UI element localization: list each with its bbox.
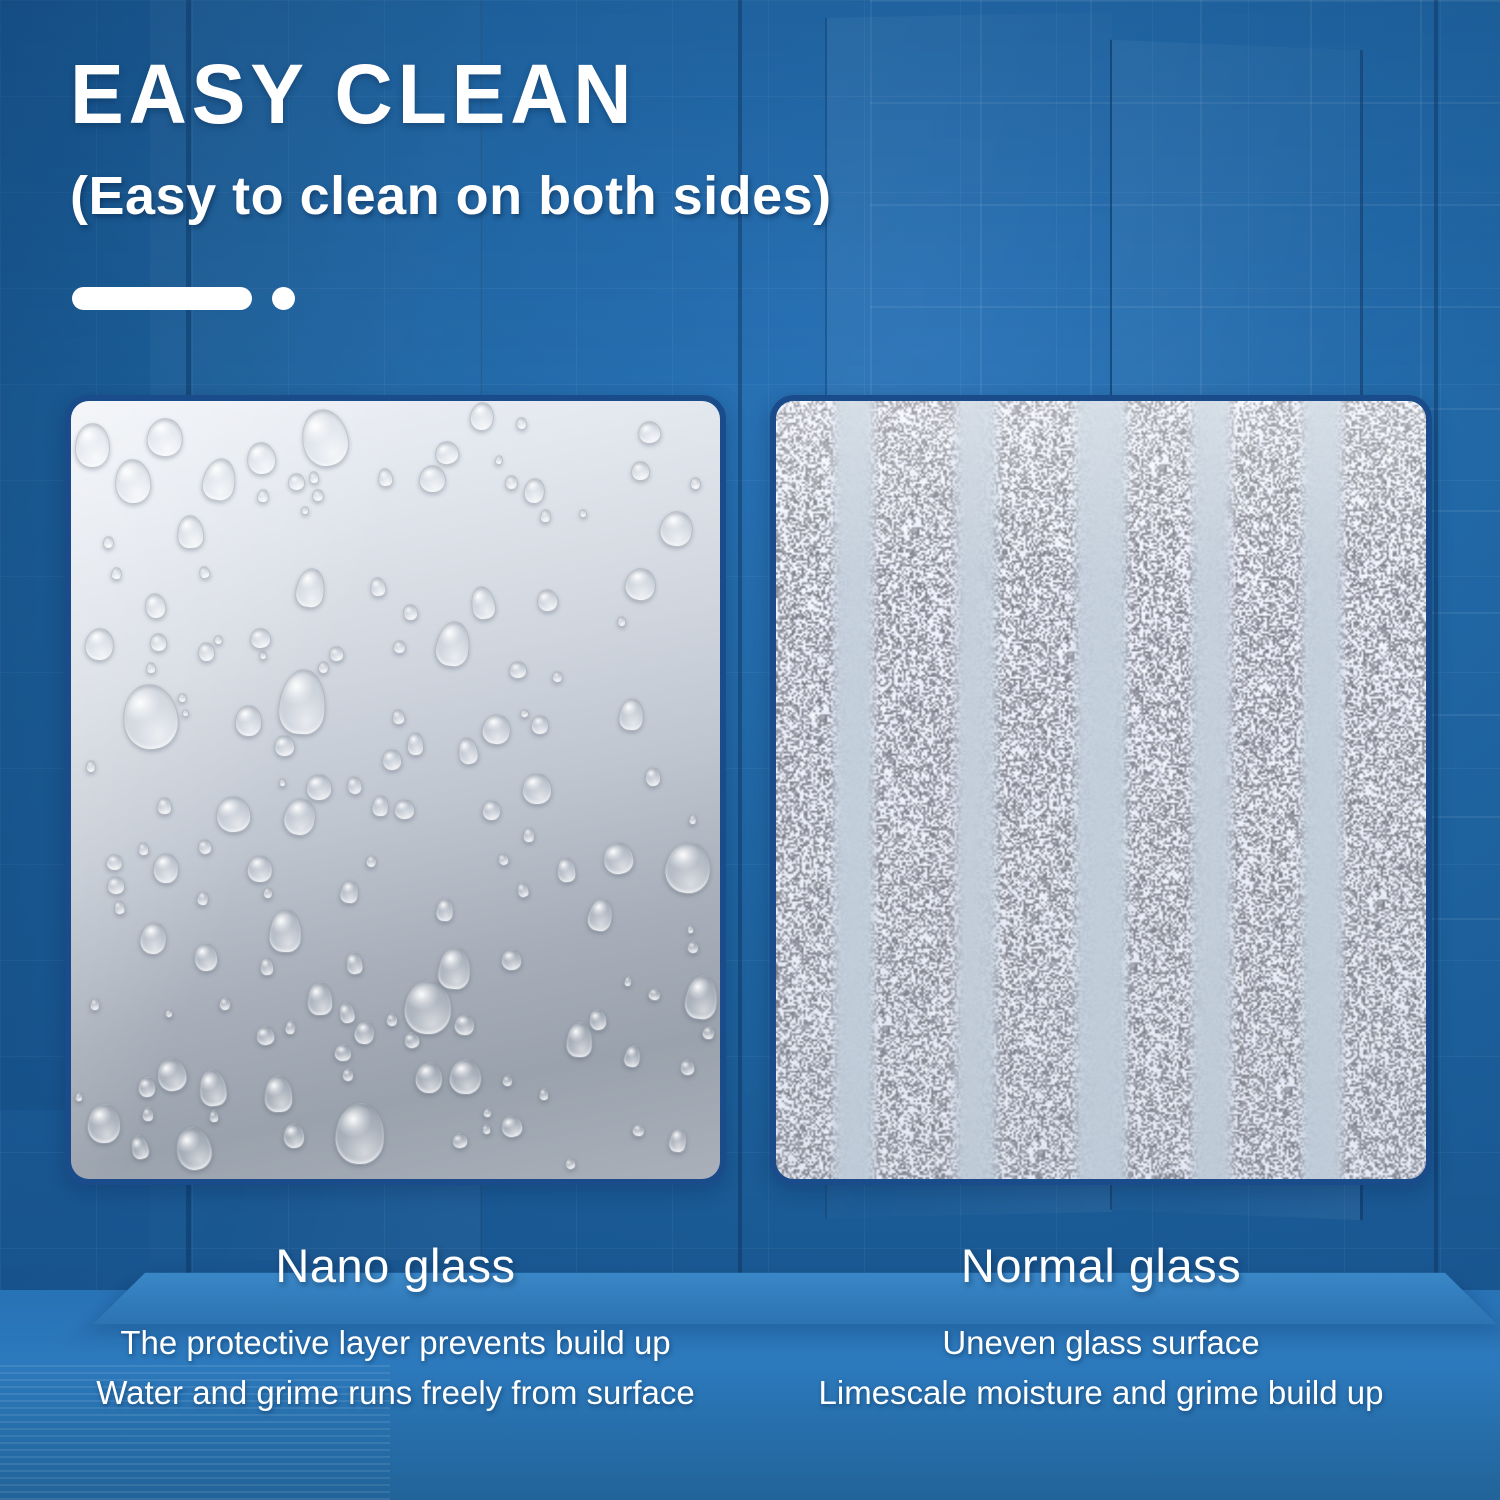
divider-dot-icon xyxy=(272,287,295,310)
water-droplet xyxy=(75,1092,83,1102)
normal-glass-title: Normal glass xyxy=(770,1238,1432,1293)
water-droplet xyxy=(85,760,96,773)
nano-glass-description-line: The protective layer prevents build up xyxy=(65,1318,726,1368)
nano-glass-description: The protective layer prevents build up W… xyxy=(65,1318,726,1418)
water-droplet xyxy=(407,732,424,756)
water-droplet xyxy=(515,416,527,430)
water-droplet xyxy=(89,997,100,1010)
water-droplet xyxy=(138,1077,156,1098)
water-droplet xyxy=(386,1012,398,1026)
water-droplet xyxy=(690,476,701,489)
header-divider xyxy=(72,287,295,310)
water-droplet xyxy=(157,797,172,816)
divider-bar-icon xyxy=(72,287,252,310)
water-droplet xyxy=(256,489,269,504)
normal-glass-sample-panel xyxy=(770,395,1432,1185)
water-droplet xyxy=(686,941,698,955)
normal-glass-description-line: Uneven glass surface xyxy=(770,1318,1432,1368)
water-droplet xyxy=(317,660,329,674)
water-droplet xyxy=(522,773,552,805)
water-droplet xyxy=(282,1123,305,1150)
water-droplet xyxy=(520,709,529,718)
nano-glass-sample-panel xyxy=(65,395,726,1185)
water-droplet xyxy=(262,887,273,899)
water-droplet xyxy=(539,1087,549,1100)
normal-glass-description-line: Limescale moisture and grime build up xyxy=(770,1368,1432,1418)
water-droplet xyxy=(392,640,405,654)
water-droplet xyxy=(142,1107,154,1122)
page-headline: EASY CLEAN xyxy=(70,52,636,138)
nano-glass-title: Nano glass xyxy=(65,1238,726,1293)
water-droplet xyxy=(631,460,650,481)
water-droplet xyxy=(504,475,517,490)
water-droplet xyxy=(393,799,414,820)
nano-glass-description-line: Water and grime runs freely from surface xyxy=(65,1368,726,1418)
water-droplet xyxy=(381,748,403,772)
water-droplet xyxy=(110,566,122,580)
water-droplet xyxy=(235,705,263,737)
water-droplet xyxy=(182,709,190,717)
normal-glass-description: Uneven glass surface Limescale moisture … xyxy=(770,1318,1432,1418)
water-droplet xyxy=(501,949,522,971)
water-droplet xyxy=(645,767,661,787)
page-subheadline: (Easy to clean on both sides) xyxy=(70,168,832,225)
normal-glass-sheen xyxy=(776,401,1426,1179)
infographic-canvas: EASY CLEAN (Easy to clean on both sides)… xyxy=(0,0,1500,1500)
